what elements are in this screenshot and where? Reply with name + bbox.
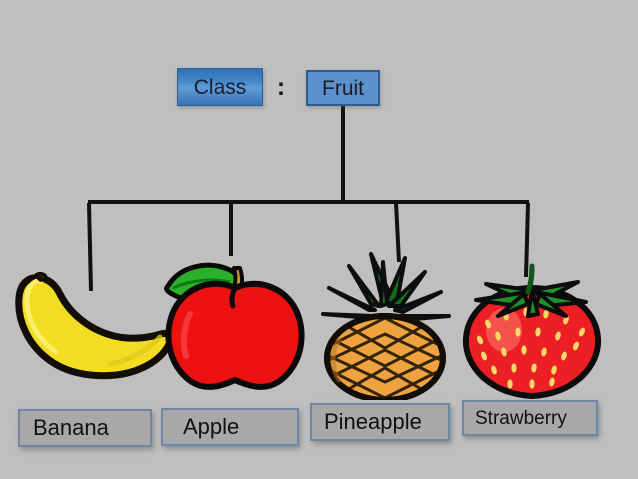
diagram-canvas: Class : Fruit [0, 0, 638, 479]
class-keyword-box[interactable]: Class [177, 68, 263, 106]
class-value-box[interactable]: Fruit [306, 70, 380, 106]
list-item[interactable]: Strawberry [462, 400, 598, 436]
item-label-banana: Banana [33, 417, 109, 439]
strawberry-icon [458, 258, 606, 400]
list-item[interactable]: Pineapple [310, 403, 450, 441]
pineapple-icon [313, 248, 459, 400]
list-item[interactable]: Apple [161, 408, 299, 446]
item-label-apple: Apple [183, 416, 239, 438]
item-label-strawberry: Strawberry [475, 409, 567, 428]
class-keyword-label: Class [194, 77, 247, 98]
class-value-label: Fruit [322, 78, 364, 99]
list-item[interactable]: Banana [18, 409, 152, 447]
apple-icon [160, 244, 310, 392]
banana-icon [10, 272, 175, 384]
item-label-pineapple: Pineapple [324, 411, 422, 433]
colon-separator: : [272, 68, 290, 106]
